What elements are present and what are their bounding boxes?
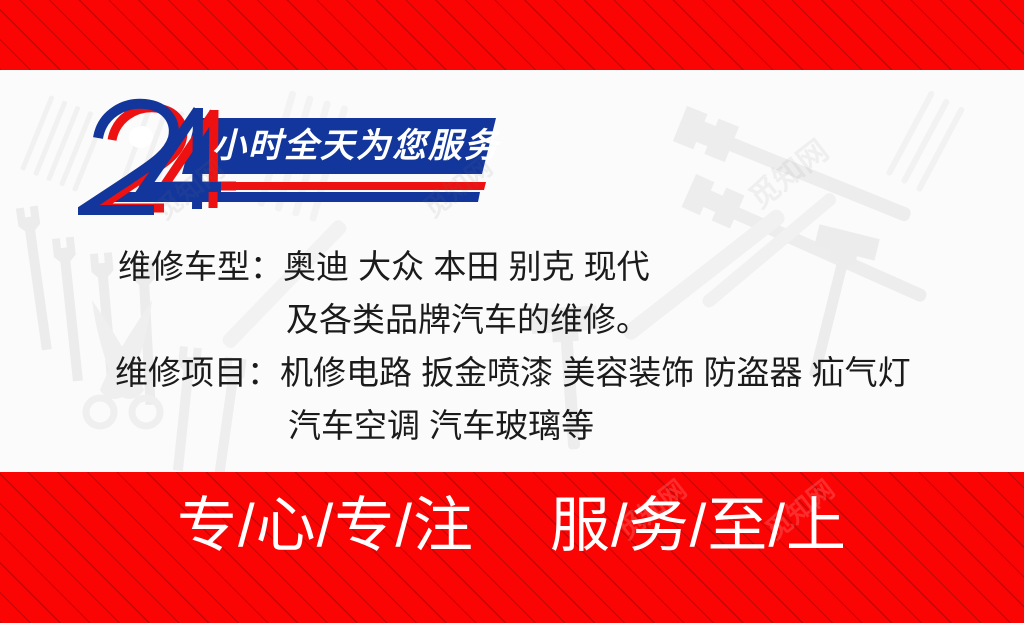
stock-watermark: 觅知网 [738,127,836,217]
repair-models-line: 维修车型：奥迪 大众 本田 别克 现代 [0,240,1024,293]
slogan-left: 专/心/专/注 [177,496,474,556]
repair-items-line-continued: 汽车空调 汽车玻璃等 [0,399,1024,452]
business-card: 小时全天为您服务 维修车型：奥迪 大众 本田 别克 现代 及各类品牌汽车的维修。… [0,0,1024,623]
service-details: 维修车型：奥迪 大众 本田 别克 现代 及各类品牌汽车的维修。 维修项目：机修电… [0,240,1024,452]
slogan-bar: 专/心/专/注 服/务/至/上 [0,496,1024,556]
top-red-band [0,0,1024,70]
repair-models-line-continued: 及各类品牌汽车的维修。 [0,293,1024,346]
repair-items-line: 维修项目：机修电路 扳金喷漆 美容装饰 防盗器 疝气灯 [0,346,1024,399]
slogan-right: 服/务/至/上 [550,496,847,556]
logo-tagline: 小时全天为您服务 [212,129,500,163]
